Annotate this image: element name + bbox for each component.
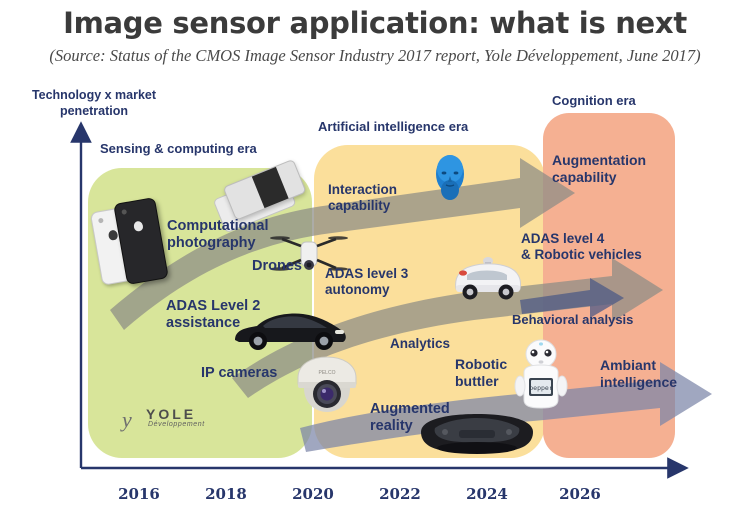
ipcam-brand-text: PELCO — [319, 370, 336, 376]
camera-lens-icon — [121, 209, 127, 215]
blue-head-model-image — [430, 152, 470, 202]
yole-logo: y YOLE Développement — [120, 405, 210, 433]
yole-logo-tagline: Développement — [148, 421, 205, 428]
ip-dome-camera-image: PELCO — [294, 354, 360, 416]
label-computational-photography: Computational photography — [167, 218, 269, 253]
label-robotic-buttler: Robotic buttler — [455, 356, 507, 390]
y-axis-label: Technology x market penetration — [14, 88, 174, 119]
label-interaction-capability: Interaction capability — [328, 182, 397, 214]
label-augmentation-capability: Augmentation capability — [552, 152, 646, 186]
label-adas-level-3: ADAS level 3 autonomy — [325, 266, 408, 298]
label-adas-level-4: ADAS level 4 & Robotic vehicles — [521, 231, 642, 263]
x-tick-2016: 2016 — [111, 485, 167, 503]
yole-mark-icon: y — [122, 407, 132, 433]
camera-lens-icon — [98, 218, 104, 224]
apple-logo-icon — [108, 229, 119, 240]
label-ambiant-intelligence: Ambiant intelligence — [600, 357, 677, 391]
page-subtitle: (Source: Status of the CMOS Image Sensor… — [0, 46, 750, 66]
x-tick-2020: 2020 — [285, 485, 341, 503]
era-title-sensing: Sensing & computing era — [100, 141, 257, 156]
infographic-root: Image sensor application: what is next (… — [0, 0, 750, 520]
self-driving-car-image — [450, 253, 526, 301]
x-tick-2018: 2018 — [198, 485, 254, 503]
x-tick-2022: 2022 — [372, 485, 428, 503]
label-augmented-reality: Augmented reality — [370, 401, 450, 436]
label-analytics: Analytics — [390, 336, 450, 352]
x-tick-2024: 2024 — [459, 485, 515, 503]
page-title: Image sensor application: what is next — [0, 6, 750, 40]
yole-logo-name: YOLE — [146, 406, 196, 422]
label-adas-level-2: ADAS Level 2 assistance — [166, 298, 260, 333]
pepper-robot-image: pepper — [508, 338, 574, 416]
label-behavioral-analysis: Behavioral analysis — [512, 312, 633, 328]
x-tick-2026: 2026 — [552, 485, 608, 503]
label-ip-cameras: IP cameras — [201, 365, 277, 382]
era-title-ai: Artificial intelligence era — [318, 119, 468, 134]
pepper-screen-text: pepper — [529, 384, 553, 392]
label-drones: Drones — [252, 258, 302, 275]
era-title-cognition: Cognition era — [552, 93, 636, 108]
apple-logo-icon — [133, 221, 144, 232]
